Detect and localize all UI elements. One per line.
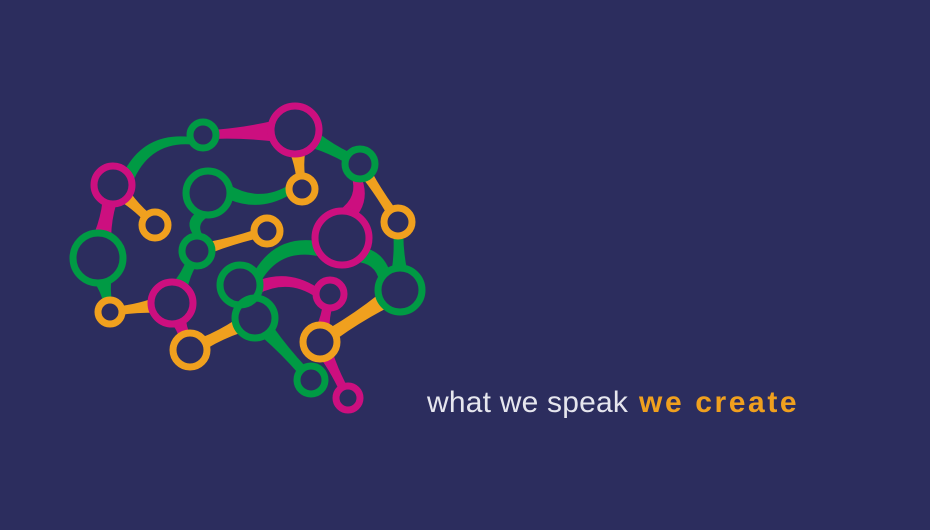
network-node-n6 (289, 176, 315, 202)
network-node-n4 (142, 212, 168, 238)
network-node-n8 (384, 208, 412, 236)
network-link (215, 121, 273, 141)
network-node-n20 (303, 325, 337, 359)
tagline: what we speak we create (427, 386, 799, 426)
tagline-light-text: what we speak (427, 386, 628, 420)
network-node-n22 (336, 386, 360, 410)
network-node-n10 (254, 218, 280, 244)
network-node-n9 (315, 211, 369, 265)
network-node-n17 (316, 280, 344, 308)
network-node-n5 (186, 171, 230, 215)
network-link (209, 230, 257, 252)
logo-screen: what we speak we create (0, 0, 930, 530)
network-node-n11 (73, 233, 123, 283)
network-link (258, 276, 317, 298)
network-node-n3 (94, 166, 132, 204)
network-node-n1 (190, 122, 216, 148)
network-node-n21 (297, 366, 325, 394)
network-node-n19 (235, 298, 275, 338)
brain-network-svg (55, 90, 445, 435)
brain-network-logo (55, 90, 445, 435)
network-link (229, 185, 291, 205)
network-node-n14 (378, 268, 422, 312)
network-node-n16 (151, 282, 193, 324)
network-node-n12 (182, 236, 212, 266)
network-link (125, 136, 195, 182)
network-node-n18 (173, 333, 207, 367)
network-node-n15 (98, 300, 122, 324)
network-node-n2 (271, 106, 319, 154)
network-link (392, 235, 407, 269)
tagline-accent-text: we create (639, 386, 799, 420)
network-node-n7 (345, 149, 375, 179)
